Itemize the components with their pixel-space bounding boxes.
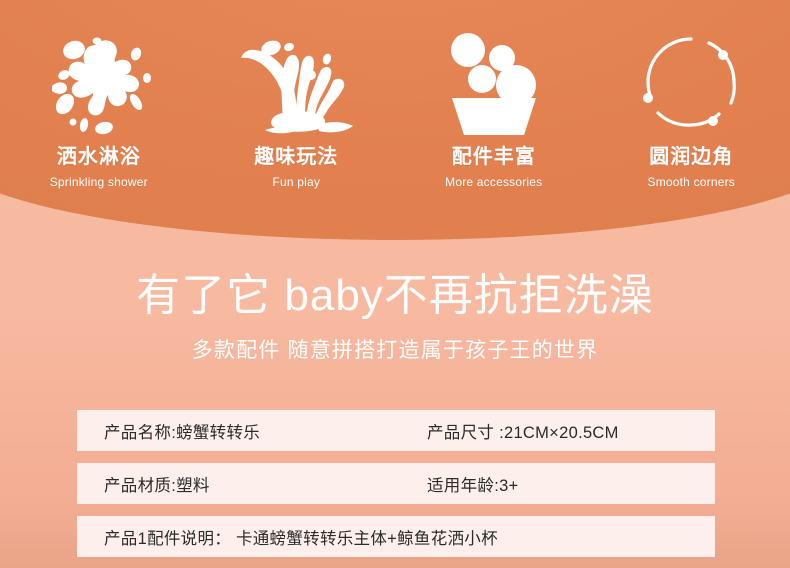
feature-title: 圆润边角 — [649, 140, 733, 169]
page-subtitle: 多款配件 随意拼搭打造属于孩子王的世界 — [0, 334, 790, 364]
feature-item-smooth-corners: 圆润边角 Smooth corners — [593, 0, 790, 222]
table-row: 产品名称:螃蟹转转乐 产品尺寸 :21CM×20.5CM — [77, 410, 715, 451]
product-spec-table: 产品名称:螃蟹转转乐 产品尺寸 :21CM×20.5CM 产品材质:塑料 适用年… — [77, 410, 715, 557]
spec-accessory-description: 产品1配件说明： 卡通螃蟹转转乐主体+鲸鱼花洒小杯 — [77, 525, 498, 549]
spec-age-range: 适用年龄:3+ — [427, 472, 715, 496]
spec-product-size: 产品尺寸 :21CM×20.5CM — [427, 419, 715, 443]
spec-product-name: 产品名称:螃蟹转转乐 — [77, 419, 427, 443]
feature-item-more-accessories: 配件丰富 More accessories — [395, 0, 593, 222]
dashed-circle-icon — [639, 26, 743, 138]
table-row: 产品材质:塑料 适用年龄:3+ — [77, 463, 715, 504]
feature-subtitle: Fun play — [272, 175, 320, 189]
water-splash-icon — [40, 26, 158, 138]
feature-subtitle: Sprinkling shower — [50, 175, 148, 189]
feature-list: 洒水淋浴 Sprinkling shower — [0, 0, 790, 222]
page-title: 有了它 baby不再抗拒洗澡 — [0, 272, 790, 320]
feature-title: 趣味玩法 — [254, 140, 338, 169]
feature-title: 配件丰富 — [452, 140, 536, 169]
feature-item-fun-play: 趣味玩法 Fun play — [198, 0, 396, 222]
table-row: 产品1配件说明： 卡通螃蟹转转乐主体+鲸鱼花洒小杯 — [77, 516, 715, 557]
tub-with-bubbles-icon — [440, 26, 548, 138]
feature-item-sprinkling-shower: 洒水淋浴 Sprinkling shower — [0, 0, 198, 222]
headline-block: 有了它 baby不再抗拒洗澡 多款配件 随意拼搭打造属于孩子王的世界 — [0, 272, 790, 364]
water-crown-splash-icon — [235, 26, 357, 138]
product-feature-banner: 洒水淋浴 Sprinkling shower — [0, 0, 790, 568]
feature-subtitle: More accessories — [445, 175, 542, 189]
feature-title: 洒水淋浴 — [57, 140, 141, 169]
feature-subtitle: Smooth corners — [647, 175, 735, 189]
spec-product-material: 产品材质:塑料 — [77, 472, 427, 496]
